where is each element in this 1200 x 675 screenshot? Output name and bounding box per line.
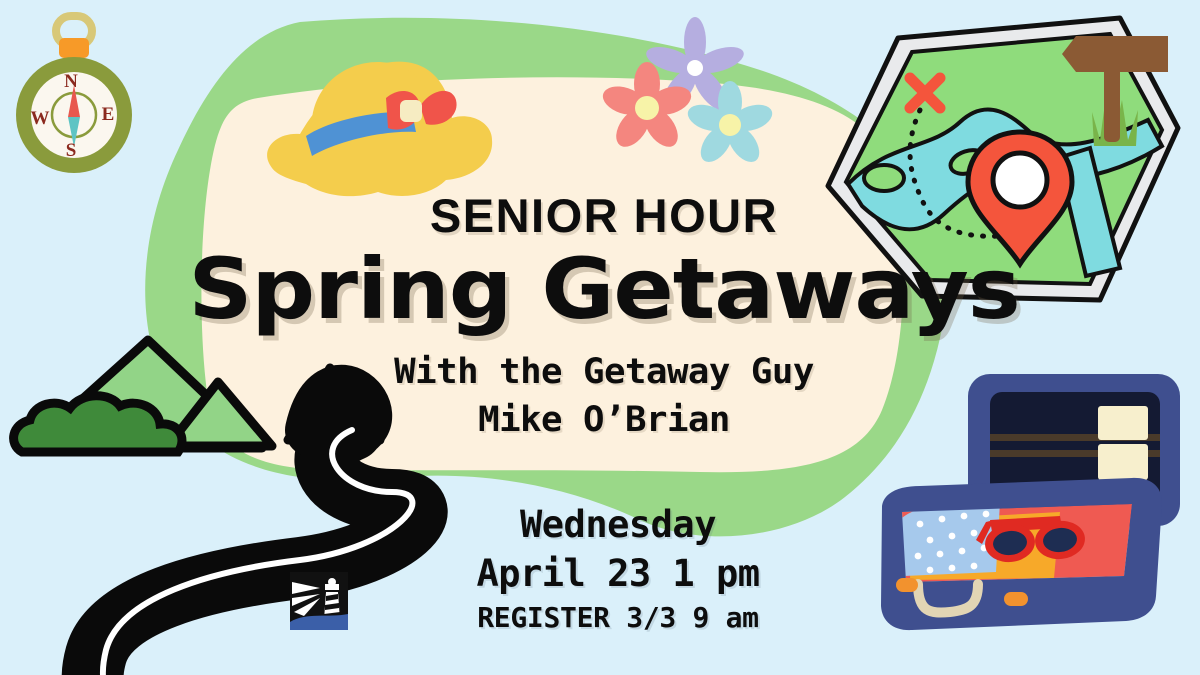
- event-day: Wednesday: [458, 503, 778, 546]
- page-title: Spring Getaways: [0, 240, 1200, 338]
- kicker-heading: SENIOR HOUR: [8, 188, 1200, 243]
- event-flyer: N S W E: [0, 0, 1200, 675]
- presenter-line-1: With the Getaway Guy: [0, 352, 1200, 392]
- presenter-line-2: Mike O’Brian: [0, 400, 1200, 440]
- registration-info: REGISTER 3/3 9 am: [458, 601, 778, 634]
- logo-lighthouse-stripes: [324, 594, 340, 619]
- event-date-time: April 23 1 pm: [458, 552, 778, 595]
